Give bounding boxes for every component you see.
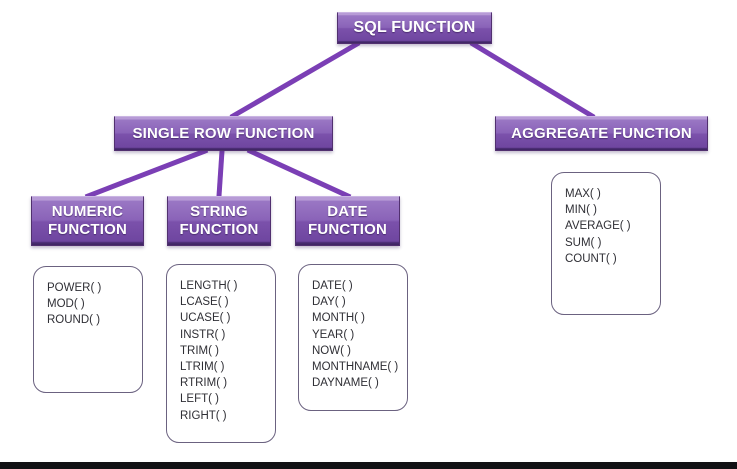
list-item: POWER( ) — [47, 280, 142, 296]
list-item: MIN( ) — [565, 202, 660, 218]
list-item: DAYNAME( ) — [312, 375, 407, 391]
edge-single-row-to-string — [219, 151, 222, 196]
node-single-row-function-label: SINGLE ROW FUNCTION — [132, 125, 314, 143]
list-aggregate-functions: MAX( )MIN( )AVERAGE( )SUM( )COUNT( ) — [551, 172, 661, 315]
node-numeric-function-label-line1: NUMERIC — [52, 203, 123, 221]
list-item: UCASE( ) — [180, 310, 275, 326]
edge-root-to-aggregate — [473, 44, 592, 116]
list-item: MONTH( ) — [312, 310, 407, 326]
list-numeric-functions: POWER( )MOD( )ROUND( ) — [33, 266, 143, 393]
edge-single-row-to-date — [250, 151, 348, 196]
list-item: LEFT( ) — [180, 391, 275, 407]
node-aggregate-function-label: AGGREGATE FUNCTION — [511, 125, 692, 143]
node-single-row-function[interactable]: SINGLE ROW FUNCTION — [114, 116, 333, 151]
list-item: MONTHNAME( ) — [312, 359, 407, 375]
list-item: TRIM( ) — [180, 343, 275, 359]
node-sql-function[interactable]: SQL FUNCTION — [337, 12, 492, 44]
list-item: COUNT( ) — [565, 251, 660, 267]
list-item: RIGHT( ) — [180, 408, 275, 424]
list-item: DAY( ) — [312, 294, 407, 310]
list-date-functions: DATE( )DAY( )MONTH( )YEAR( )NOW( )MONTHN… — [298, 264, 408, 411]
node-numeric-function-label-line2: FUNCTION — [48, 221, 127, 239]
list-string-functions: LENGTH( )LCASE( )UCASE( )INSTR( )TRIM( )… — [166, 264, 276, 443]
node-string-function[interactable]: STRING FUNCTION — [167, 196, 271, 246]
node-date-function-label-line1: DATE — [327, 203, 368, 221]
node-numeric-function[interactable]: NUMERIC FUNCTION — [31, 196, 144, 246]
diagram-canvas: SQL FUNCTION SINGLE ROW FUNCTION AGGREGA… — [0, 0, 737, 469]
list-item: INSTR( ) — [180, 327, 275, 343]
list-item: LENGTH( ) — [180, 278, 275, 294]
node-string-function-label-line2: FUNCTION — [179, 221, 258, 239]
list-item: NOW( ) — [312, 343, 407, 359]
list-item: AVERAGE( ) — [565, 218, 660, 234]
bottom-rule — [0, 462, 737, 469]
node-date-function-label-line2: FUNCTION — [308, 221, 387, 239]
list-item: ROUND( ) — [47, 312, 142, 328]
node-string-function-label-line1: STRING — [190, 203, 248, 221]
list-item: RTRIM( ) — [180, 375, 275, 391]
node-aggregate-function[interactable]: AGGREGATE FUNCTION — [495, 116, 708, 151]
list-item: YEAR( ) — [312, 327, 407, 343]
edge-root-to-single-row — [233, 44, 357, 116]
list-item: SUM( ) — [565, 235, 660, 251]
node-date-function[interactable]: DATE FUNCTION — [295, 196, 400, 246]
list-item: LCASE( ) — [180, 294, 275, 310]
node-sql-function-label: SQL FUNCTION — [353, 19, 475, 38]
list-item: LTRIM( ) — [180, 359, 275, 375]
list-item: DATE( ) — [312, 278, 407, 294]
list-item: MAX( ) — [565, 186, 660, 202]
edge-single-row-to-numeric — [88, 151, 205, 196]
list-item: MOD( ) — [47, 296, 142, 312]
